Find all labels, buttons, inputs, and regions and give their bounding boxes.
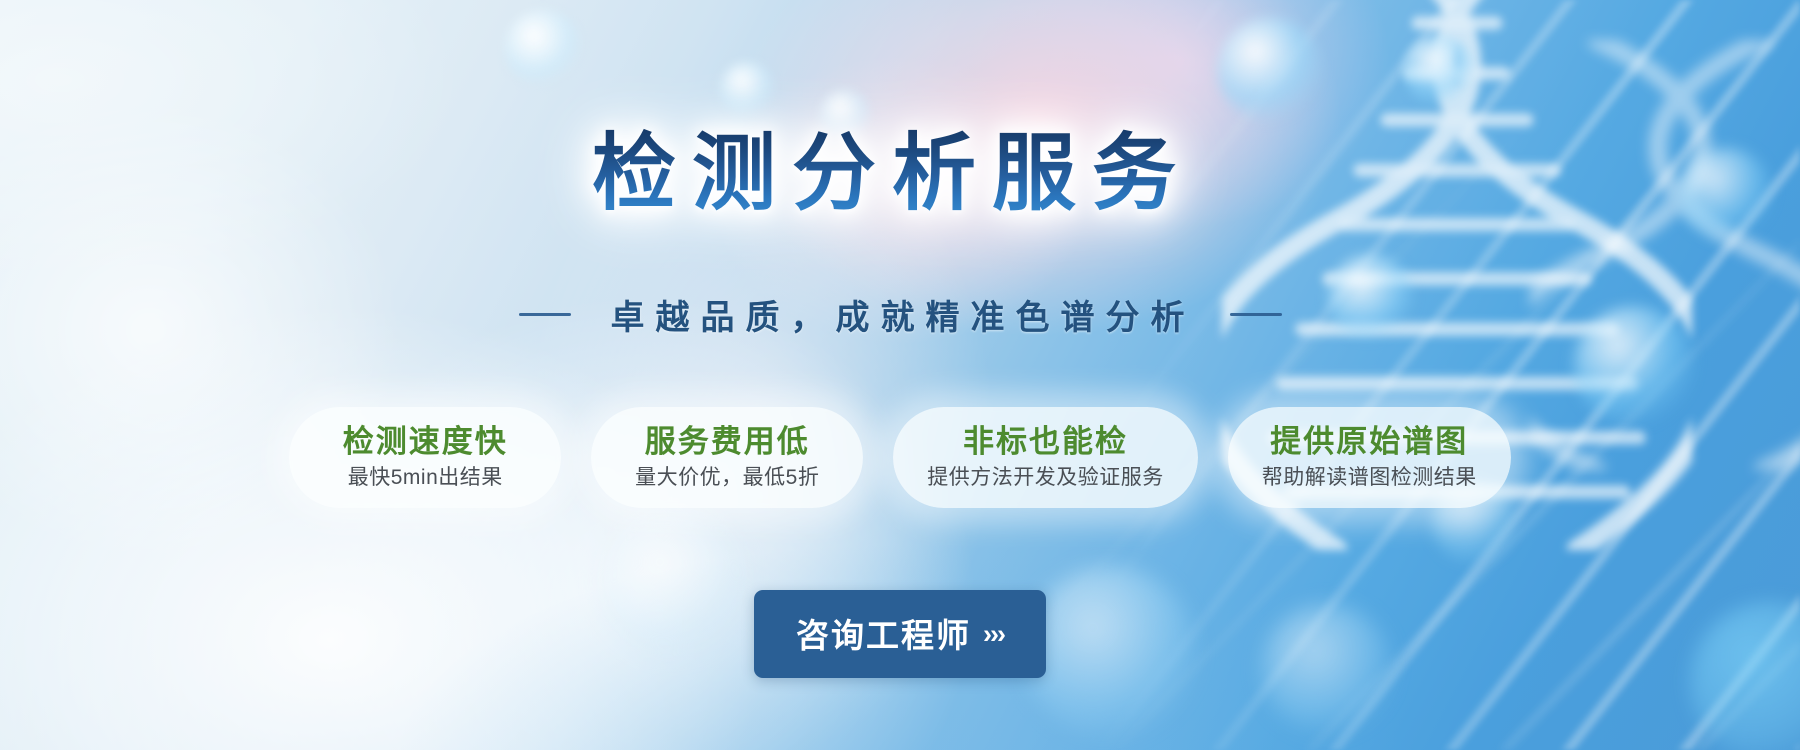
banner-content: 检测分析服务 卓越品质，成就精准色谱分析 检测速度快 最快5min出结果 服务费… xyxy=(0,0,1800,750)
feature-pill-title: 服务费用低 xyxy=(625,423,829,461)
feature-pill-raw-spectra[interactable]: 提供原始谱图 帮助解读谱图检测结果 xyxy=(1228,407,1511,508)
feature-pill-subtitle: 量大价优，最低5折 xyxy=(625,465,829,491)
consult-engineer-label: 咨询工程师 xyxy=(796,609,971,657)
detection-analysis-service-banner: 检测分析服务 卓越品质，成就精准色谱分析 检测速度快 最快5min出结果 服务费… xyxy=(0,0,1800,750)
banner-subtitle: 卓越品质，成就精准色谱分析 xyxy=(605,290,1196,339)
page-title: 检测分析服务 xyxy=(592,128,1208,219)
cta-wrapper: 咨询工程师 ››› xyxy=(0,590,1800,678)
feature-pill-detection-speed[interactable]: 检测速度快 最快5min出结果 xyxy=(289,407,561,508)
feature-pill-non-standard[interactable]: 非标也能检 提供方法开发及验证服务 xyxy=(893,407,1198,508)
feature-pill-subtitle: 提供方法开发及验证服务 xyxy=(927,465,1164,491)
banner-title-wrapper: 检测分析服务 xyxy=(0,128,1800,219)
subtitle-left-rule-icon xyxy=(519,313,571,316)
consult-engineer-button[interactable]: 咨询工程师 ››› xyxy=(754,590,1046,678)
feature-pill-subtitle: 帮助解读谱图检测结果 xyxy=(1262,465,1477,491)
feature-pill-subtitle: 最快5min出结果 xyxy=(323,465,527,491)
feature-pill-title: 检测速度快 xyxy=(323,423,527,461)
feature-pill-title: 提供原始谱图 xyxy=(1262,423,1477,461)
subtitle-right-rule-icon xyxy=(1230,313,1282,316)
banner-subtitle-row: 卓越品质，成就精准色谱分析 xyxy=(0,290,1800,339)
feature-pill-list: 检测速度快 最快5min出结果 服务费用低 量大价优，最低5折 非标也能检 提供… xyxy=(0,407,1800,508)
chevron-right-triple-icon: ››› xyxy=(983,621,1004,648)
feature-pill-title: 非标也能检 xyxy=(927,423,1164,461)
feature-pill-low-cost[interactable]: 服务费用低 量大价优，最低5折 xyxy=(591,407,863,508)
